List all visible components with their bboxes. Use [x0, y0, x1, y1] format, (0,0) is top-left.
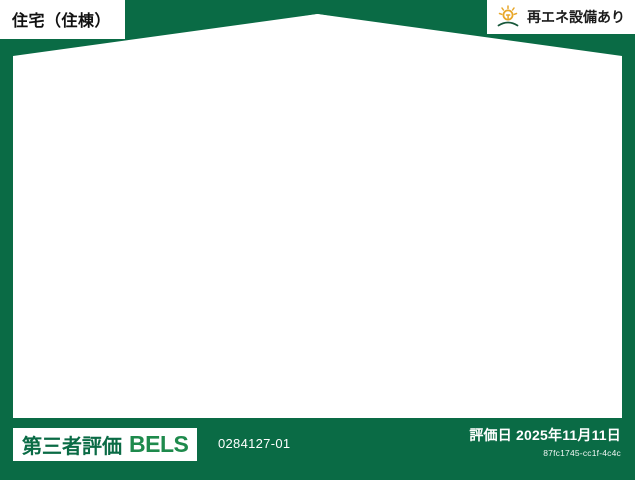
evaluation-date: 評価日 2025年11月11日 [469, 425, 621, 445]
bels-en-text: BELS [129, 431, 188, 458]
label-card [13, 14, 622, 418]
renewable-badge: 再エネ設備あり [487, 0, 635, 34]
energy-performance-label: 住宅（住棟） 再エネ設備あり 建築物省エネ法に基づく 省エネ性能ラベル エネルギ… [0, 0, 635, 480]
evaluation-hash: 87fc1745-cc1f-4c4c [469, 448, 621, 458]
evaluation-info: 評価日 2025年11月11日 87fc1745-cc1f-4c4c [469, 425, 621, 458]
bels-logo-box: 第三者評価 BELS [13, 428, 197, 461]
bels-number: 0284127-01 [218, 436, 290, 451]
footer-bar: 第三者評価 BELS 0284127-01 評価日 2025年11月11日 87… [0, 418, 635, 480]
sun-icon [495, 5, 521, 29]
building-type-tag: 住宅（住棟） [0, 0, 125, 39]
renewable-badge-text: 再エネ設備あり [527, 7, 625, 27]
bels-jp-text: 第三者評価 [22, 430, 122, 459]
building-type-text: 住宅（住棟） [12, 13, 111, 30]
